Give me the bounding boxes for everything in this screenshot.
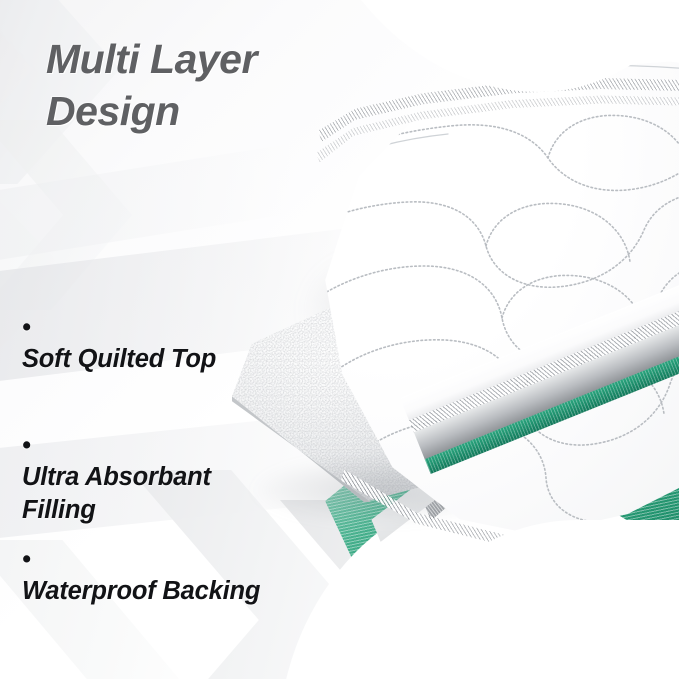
page-title: Multi Layer Design [46, 34, 376, 137]
infographic-canvas: Multi Layer Design • Soft Quilted Top • … [0, 0, 679, 679]
feature-item-soft-quilted-top: • Soft Quilted Top [22, 278, 216, 376]
feature-item-ultra-absorbant-filling: • Ultra Absorbant Filling [22, 396, 211, 527]
bullet-dot-icon: • [22, 313, 31, 341]
feature-item-waterproof-backing: • Waterproof Backing [22, 510, 260, 608]
bullet-dot-icon: • [22, 545, 31, 573]
feature-label: Waterproof Backing [22, 577, 260, 605]
bullet-dot-icon: • [22, 431, 31, 459]
feature-label: Soft Quilted Top [22, 345, 216, 373]
